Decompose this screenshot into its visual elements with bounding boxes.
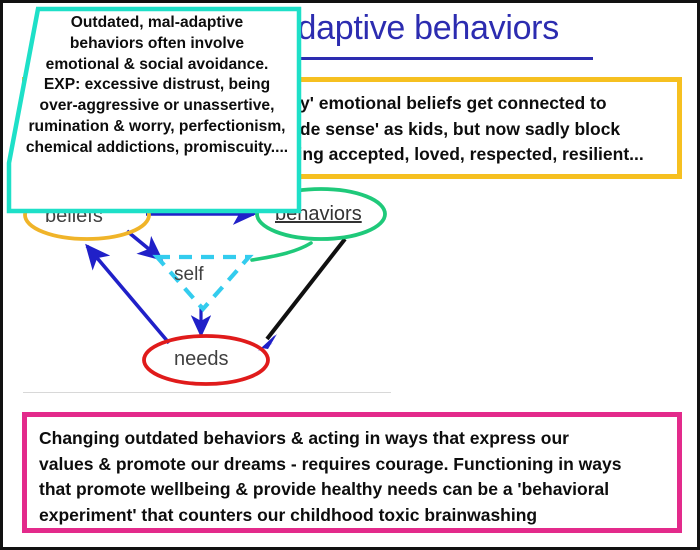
callout-line: Changing outdated behaviors & acting in … (39, 426, 665, 452)
callout-line: that promote wellbeing & provide healthy… (39, 477, 665, 503)
scan-artifact-line (23, 392, 391, 393)
callout-line: Outdated, mal-adaptive (21, 13, 293, 34)
node-label-self: self (174, 264, 204, 286)
callout-line: values & promote our dreams - requires c… (39, 452, 665, 478)
node-label-needs: needs (174, 348, 229, 371)
callout-line: over-aggressive or unassertive, (21, 96, 293, 117)
callout-changing-behaviors: Changing outdated behaviors & acting in … (22, 412, 682, 533)
callout-line: behaviors often involve (21, 34, 293, 55)
callout-line: rumination & worry, perfectionism, (21, 117, 293, 138)
callout-line: EXP: excessive distrust, being (21, 75, 293, 96)
callout-maladaptive-behaviors: Outdated, mal-adaptive behaviors often i… (3, 3, 303, 217)
callout-line: experiment' that counters our childhood … (39, 503, 665, 529)
callout-line: emotional & social avoidance. (21, 55, 293, 76)
callout-right-text: Outdated, mal-adaptive behaviors often i… (21, 13, 293, 159)
slide-canvas: maladaptive behaviors Dysfunctional 'sec… (0, 0, 700, 550)
edge-needs-to-beliefs (87, 246, 169, 343)
callout-line: chemical addictions, promiscuity.... (21, 138, 293, 159)
edge-beliefs-to-self (127, 231, 161, 259)
edge-behaviors-to-self (252, 243, 311, 260)
